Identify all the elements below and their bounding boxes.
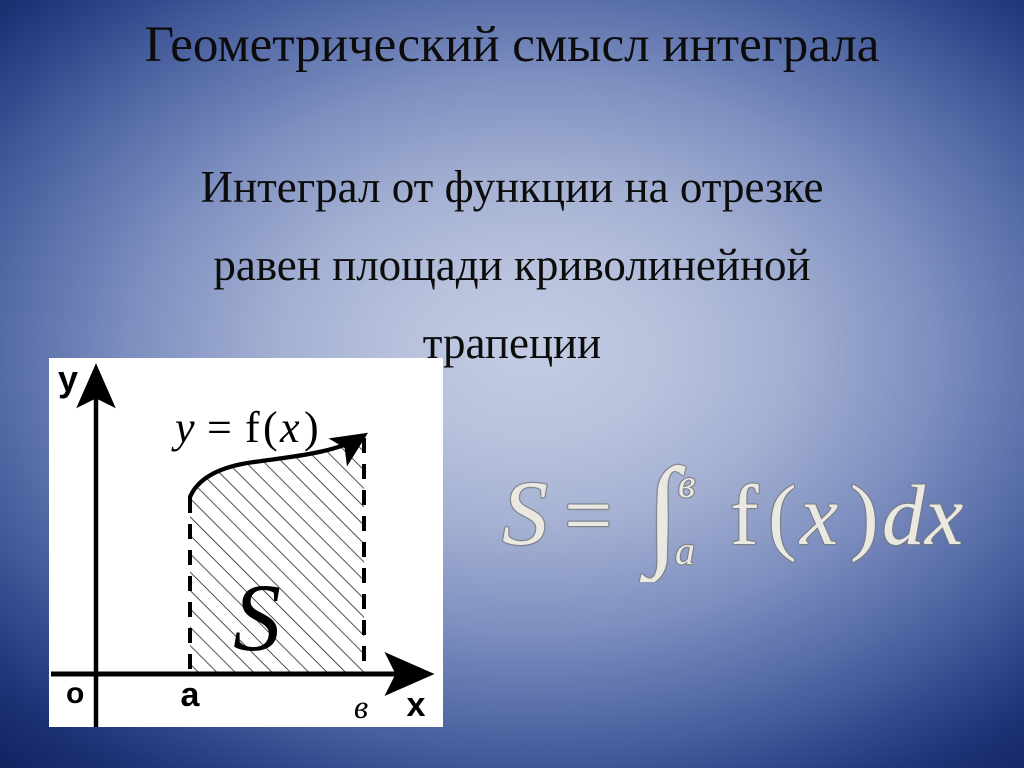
page-title: Геометрический смысл интеграла [0,14,1024,76]
curvilinear-trapezoid-figure: y x o a в S y = f ( x ) [49,358,443,727]
curve-label-open-paren: ( [263,403,278,452]
origin-label: o [66,677,84,710]
area-label-S: S [233,564,281,671]
formula-differential: dx [882,467,963,563]
formula-equals: = [564,467,613,563]
presentation-slide: Геометрический смысл интеграла Интеграл … [0,0,1024,768]
curve-label-equals: = [207,403,232,452]
right-bound-label: в [354,690,368,726]
subtitle-line-2: равен площади криволинейной [62,226,962,304]
formula-lower-limit: a [675,528,695,573]
curve-label-y: y [171,403,195,452]
curve-label-close-paren: ) [304,403,319,452]
curve-equation-label: y = f ( x ) [171,403,319,452]
formula-open-paren: ( [768,467,797,563]
y-axis-label: y [58,358,78,399]
integral-formula: S = ∫ в a f ( x ) dx [498,452,1010,582]
curve-label-f: f [245,403,260,452]
formula-upper-limit: в [678,461,695,506]
x-axis-label: x [407,686,426,724]
curve-label-x: x [279,403,300,452]
left-bound-label: a [181,676,201,714]
formula-S: S [502,462,548,564]
formula-f: f [730,467,759,563]
formula-close-paren: ) [850,467,879,563]
formula-variable-x: x [798,467,838,563]
subtitle-block: Интеграл от функции на отрезке равен пло… [62,148,962,382]
subtitle-line-1: Интеграл от функции на отрезке [62,148,962,226]
